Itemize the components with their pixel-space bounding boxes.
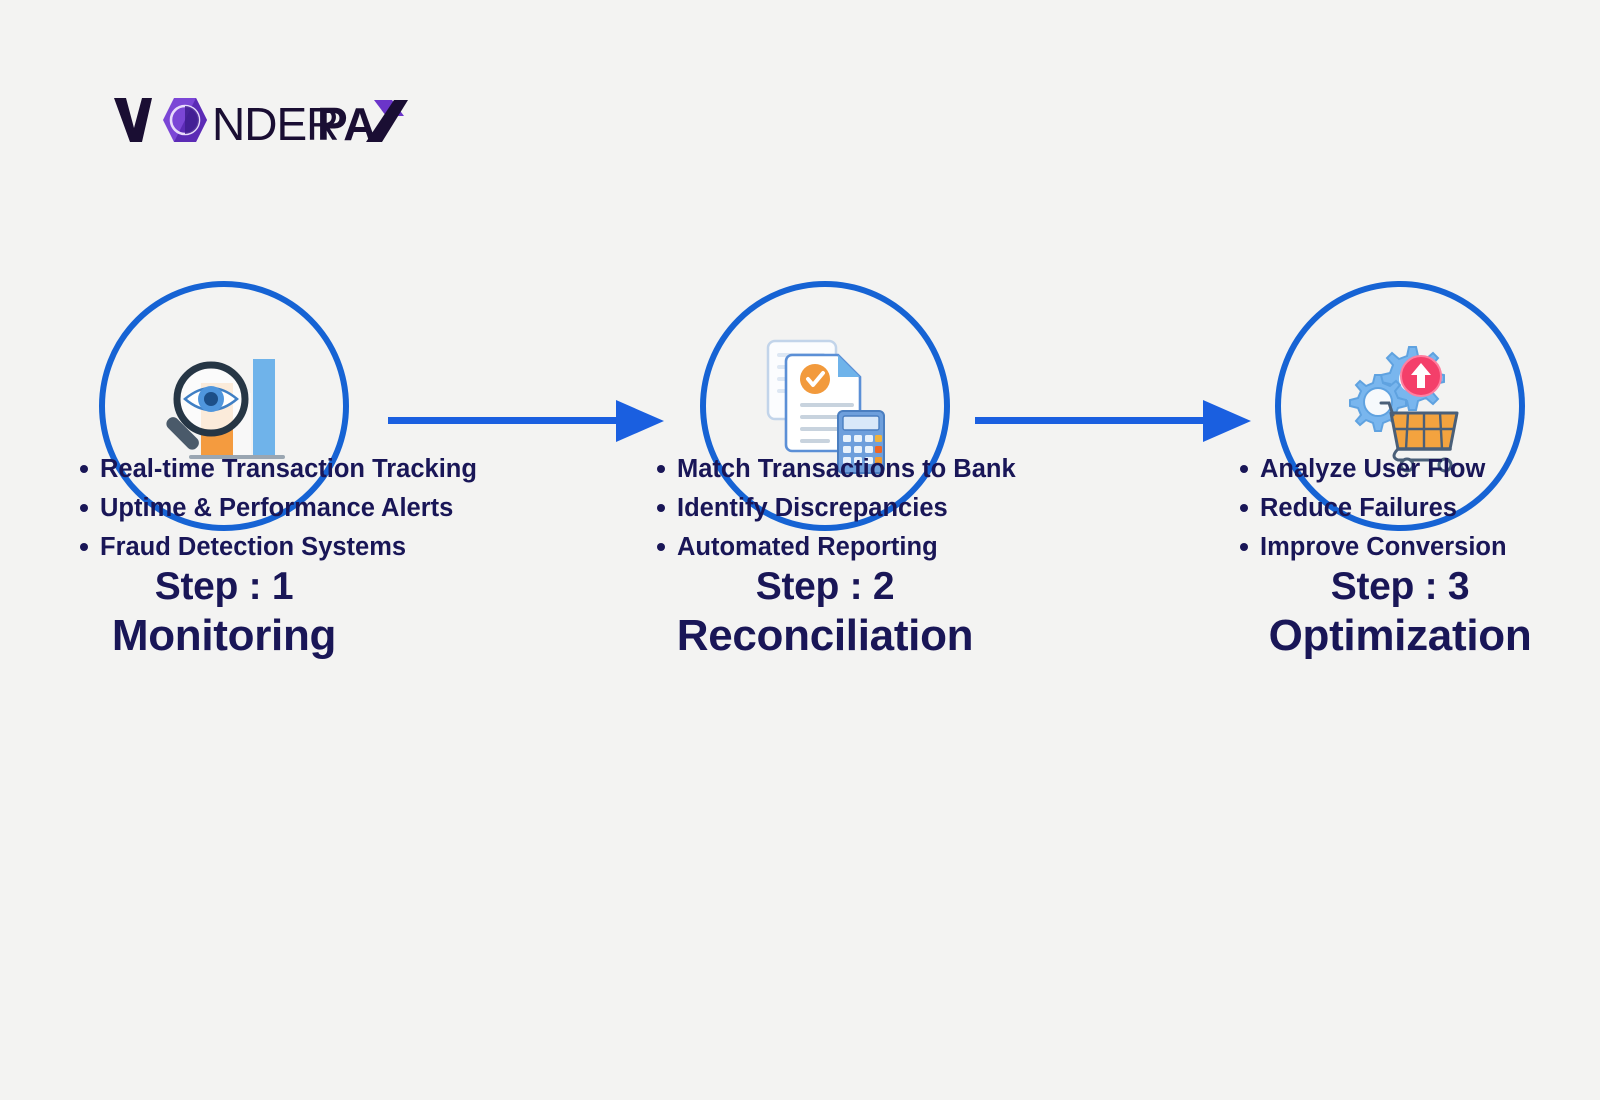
process-flow-diagram: Step : 1 Monitoring Real-time Transactio… bbox=[0, 0, 1600, 1100]
step-2-label: Step : 2 bbox=[575, 567, 1075, 606]
list-item: Reduce Failures bbox=[1238, 489, 1507, 528]
list-item: Analyze User Flow bbox=[1238, 450, 1507, 489]
step-3-label: Step : 3 bbox=[1150, 567, 1600, 606]
list-item: Identify Discrepancies bbox=[655, 489, 1016, 528]
list-item: Improve Conversion bbox=[1238, 528, 1507, 567]
step-1-headings: Step : 1 Monitoring bbox=[0, 567, 474, 665]
step-3-title: Optimization bbox=[1150, 606, 1600, 665]
step-2-headings: Step : 2 Reconciliation bbox=[575, 567, 1075, 665]
step-1-label: Step : 1 bbox=[0, 567, 474, 606]
list-item: Fraud Detection Systems bbox=[78, 528, 477, 567]
step-3-headings: Step : 3 Optimization bbox=[1150, 567, 1600, 665]
step-1-bullet-list: Real-time Transaction Tracking Uptime & … bbox=[78, 450, 477, 566]
list-item: Uptime & Performance Alerts bbox=[78, 489, 477, 528]
step-2-bullet-list: Match Transactions to Bank Identify Disc… bbox=[655, 450, 1016, 566]
list-item: Real-time Transaction Tracking bbox=[78, 450, 477, 489]
step-3-bullet-list: Analyze User Flow Reduce Failures Improv… bbox=[1238, 450, 1507, 566]
step-2-title: Reconciliation bbox=[575, 606, 1075, 665]
list-item: Match Transactions to Bank bbox=[655, 450, 1016, 489]
step-1-title: Monitoring bbox=[0, 606, 474, 665]
list-item: Automated Reporting bbox=[655, 528, 1016, 567]
